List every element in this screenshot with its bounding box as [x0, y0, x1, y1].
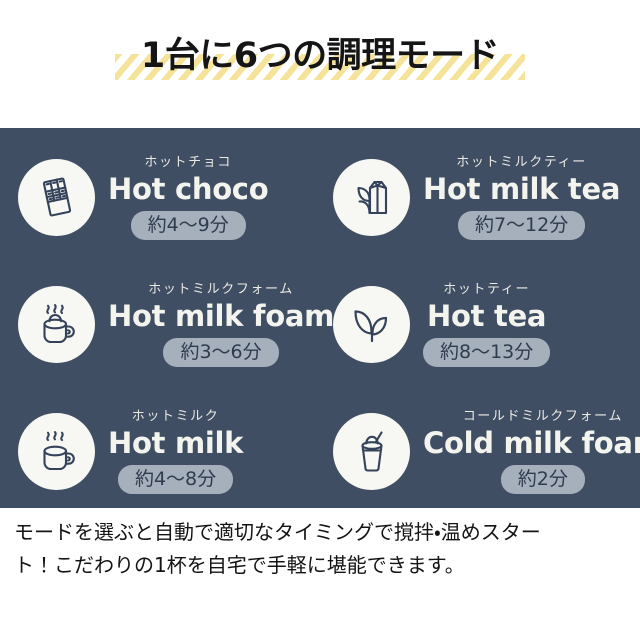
caption: モードを選ぶと自動で適切なタイミングで撹拌・温めスター ト！こだわりの1杯を自宅…	[14, 516, 628, 582]
mode-kana-label: コールドミルクフォーム	[463, 409, 623, 425]
mode-card-text: ホットミルクティー Hot milk tea 約7〜12分	[423, 155, 620, 240]
cold-cup-straw-icon	[333, 413, 410, 490]
mode-time-badge: 約2分	[501, 465, 585, 494]
mode-time-badge: 約3〜6分	[163, 338, 278, 367]
caption-line-2: ト！こだわりの1杯を自宅で手軽に堪能できます。	[14, 549, 628, 582]
mode-card-hot-tea[interactable]: ホットティー Hot tea 約8〜13分	[333, 269, 550, 379]
mode-time-badge: 約4〜8分	[118, 465, 233, 494]
modes-grid: ホットチョコ Hot choco 約4〜9分	[0, 128, 640, 508]
caption-line-1: モードを選ぶと自動で適切なタイミングで撹拌・温めスター	[14, 516, 628, 549]
mode-kana-label: ホットチョコ	[144, 155, 232, 171]
mode-card-hot-milk[interactable]: ホットミルク Hot milk 約4〜8分	[18, 396, 243, 506]
mode-card-text: ホットミルク Hot milk 約4〜8分	[108, 409, 243, 494]
title-text: 1台に6つの調理モード	[141, 36, 499, 76]
mode-time-badge: 約7〜12分	[458, 211, 585, 240]
mode-english-title: Cold milk foam	[423, 426, 640, 460]
mode-english-title: Hot milk foam	[108, 299, 334, 333]
milk-carton-leaf-icon	[333, 159, 410, 236]
mode-card-text: コールドミルクフォーム Cold milk foam 約2分	[423, 409, 640, 494]
mode-english-title: Hot choco	[108, 172, 268, 206]
mode-english-title: Hot milk	[108, 426, 243, 460]
title-inner: 1台に6つの調理モード	[115, 34, 525, 78]
steaming-mug-icon	[18, 413, 95, 490]
steaming-mug-foam-icon	[18, 286, 95, 363]
modes-panel: ホットチョコ Hot choco 約4〜9分	[0, 128, 640, 508]
mode-card-hot-milk-foam[interactable]: ホットミルクフォーム Hot milk foam 約3〜6分	[18, 269, 334, 379]
mode-kana-label: ホットミルク	[132, 409, 220, 425]
mode-time-badge: 約8〜13分	[423, 338, 550, 367]
page-title: 1台に6つの調理モード	[0, 34, 640, 78]
mode-card-text: ホットチョコ Hot choco 約4〜9分	[108, 155, 268, 240]
mode-card-hot-milk-tea[interactable]: ホットミルクティー Hot milk tea 約7〜12分	[333, 142, 620, 252]
mode-card-text: ホットティー Hot tea 約8〜13分	[423, 282, 550, 367]
tea-leaf-icon	[333, 286, 410, 363]
mode-card-cold-milk-foam[interactable]: コールドミルクフォーム Cold milk foam 約2分	[333, 396, 640, 506]
mode-kana-label: ホットミルクティー	[456, 155, 587, 171]
mode-card-text: ホットミルクフォーム Hot milk foam 約3〜6分	[108, 282, 334, 367]
infographic-page: 1台に6つの調理モード	[0, 0, 640, 640]
header: 1台に6つの調理モード	[0, 0, 640, 128]
mode-english-title: Hot tea	[427, 299, 546, 333]
mode-card-hot-choco[interactable]: ホットチョコ Hot choco 約4〜9分	[18, 142, 268, 252]
mode-kana-label: ホットミルクフォーム	[148, 282, 294, 298]
chocolate-bar-icon	[18, 159, 95, 236]
mode-time-badge: 約4〜9分	[131, 211, 246, 240]
mode-english-title: Hot milk tea	[423, 172, 620, 206]
mode-kana-label: ホットティー	[443, 282, 530, 298]
